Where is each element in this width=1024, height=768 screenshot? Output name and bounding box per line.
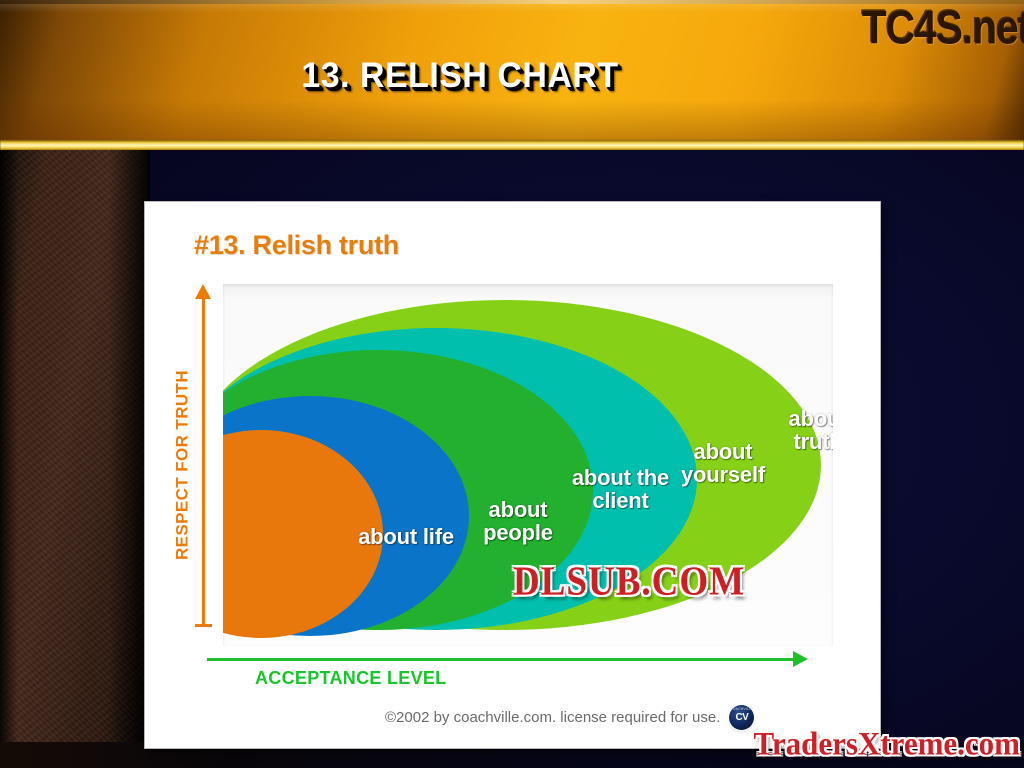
header-glow-stripe [0,140,1024,150]
slide-title: #13. Relish truth [194,230,399,261]
copyright-text: ©2002 by coachville.com. license require… [385,709,720,726]
y-axis-base-tick [195,624,212,627]
coachville-logo-initials: CV [729,705,754,730]
tradersxtreme-watermark: TradersXtreme.com [753,725,1020,763]
x-axis-label: ACCEPTANCE LEVEL [255,668,446,689]
tc4s-watermark: TC4S.net [861,2,1024,55]
slide-panel: #13. Relish truth about life about peopl… [145,202,880,748]
y-axis-line [202,296,205,626]
header-banner: 13. RELISH CHART TC4S.net [0,0,1024,150]
x-axis-line [207,658,797,661]
dlsub-watermark: DLSUB.COM [513,557,745,605]
ring-label-about-truth: about truth [763,408,833,454]
x-axis-arrow-icon [793,651,808,667]
ring-label-about-the-client: about the client [568,467,673,513]
ring-label-about-life: about life [351,526,461,549]
background-leather-texture [0,150,150,768]
y-axis-label: RESPECT FOR TRUTH [173,358,193,573]
page-title: 13. RELISH CHART [14,56,906,96]
ring-label-about-people: about people [463,499,573,545]
coachville-logo-icon: COACHVILLE CV [729,705,754,730]
